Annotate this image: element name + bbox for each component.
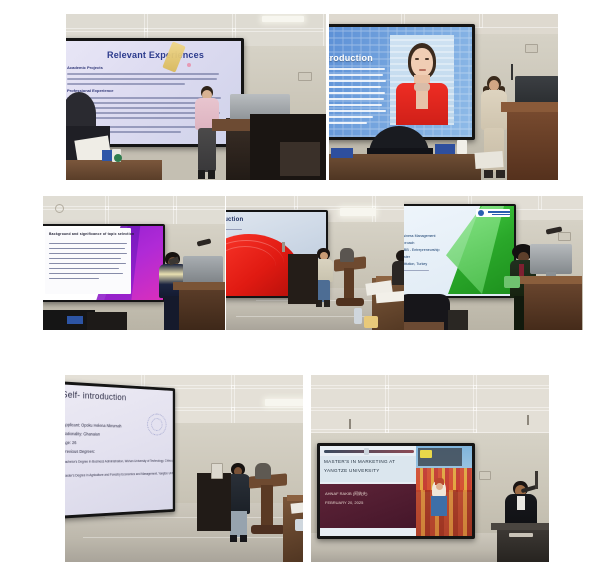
slide-title: Relevant Experiences xyxy=(107,50,204,60)
ceiling-light xyxy=(265,399,303,406)
photo-relevant-experiences[interactable]: Relevant Experiences Academic Projects P… xyxy=(66,14,326,180)
slide-line-3: TOBB - Entrepreneurship xyxy=(404,248,439,252)
slide-section-1: Academic Projects xyxy=(67,65,103,70)
photo-self-introduction-details[interactable]: Self- introduction Applicant: Opoku Hele… xyxy=(65,375,303,562)
slide-field-3: Previous Degrees: xyxy=(65,449,95,454)
projector-screen: Background and significance of topic sel… xyxy=(43,224,165,302)
photo-green-slide-business-management[interactable]: Business Management Approach TOBB - Entr… xyxy=(404,196,583,330)
slide-date: FEBRUARY 20, 2025 xyxy=(325,500,363,505)
lectern-monitor xyxy=(183,256,223,284)
slide-field-1: Nationality: Ghanaian xyxy=(65,431,100,436)
photo-collage: Relevant Experiences Academic Projects P… xyxy=(0,0,611,574)
slide-line-5: Institution, Turkey xyxy=(404,262,427,266)
slide-line-4: Master xyxy=(404,255,410,259)
slide-portrait xyxy=(390,35,454,125)
photo-red-slide-introduction[interactable]: Introduction xyxy=(226,196,404,330)
slide-title: Introduction xyxy=(226,217,243,223)
photo-topic-selection[interactable]: Background and significance of topic sel… xyxy=(43,196,225,330)
projector-screen: Self- introduction Applicant: Opoku Hele… xyxy=(65,381,175,519)
projector-screen: Business Management Approach TOBB - Entr… xyxy=(404,204,516,298)
presenter xyxy=(194,86,220,180)
slide-title-line-1: MASTER'S IN MARKETING AT xyxy=(324,459,395,464)
projector-screen: Introduction xyxy=(329,24,475,140)
lectern-monitor xyxy=(530,244,572,274)
slide-field-2: Age: 26 xyxy=(65,440,76,445)
photo-introduction-portrait[interactable]: Introduction xyxy=(329,14,558,180)
photo-marketing-masters-title[interactable]: MASTER'S IN MARKETING AT YANGTZE UNIVERS… xyxy=(311,375,549,562)
slide-author: AHNAF RAKIB (阿纳夫) xyxy=(325,491,367,497)
slide-line-1: Business Management xyxy=(404,234,436,238)
slide-photo xyxy=(416,446,472,536)
slide-title-line-2: YANGTZE UNIVERSITY xyxy=(324,468,380,473)
slide-line-2: Approach xyxy=(404,241,414,245)
projector-screen: MASTER'S IN MARKETING AT YANGTZE UNIVERS… xyxy=(317,443,475,539)
slide-title: Introduction xyxy=(329,53,373,63)
slide-title: Background and significance of topic sel… xyxy=(49,232,134,236)
ceiling-light xyxy=(340,208,376,216)
